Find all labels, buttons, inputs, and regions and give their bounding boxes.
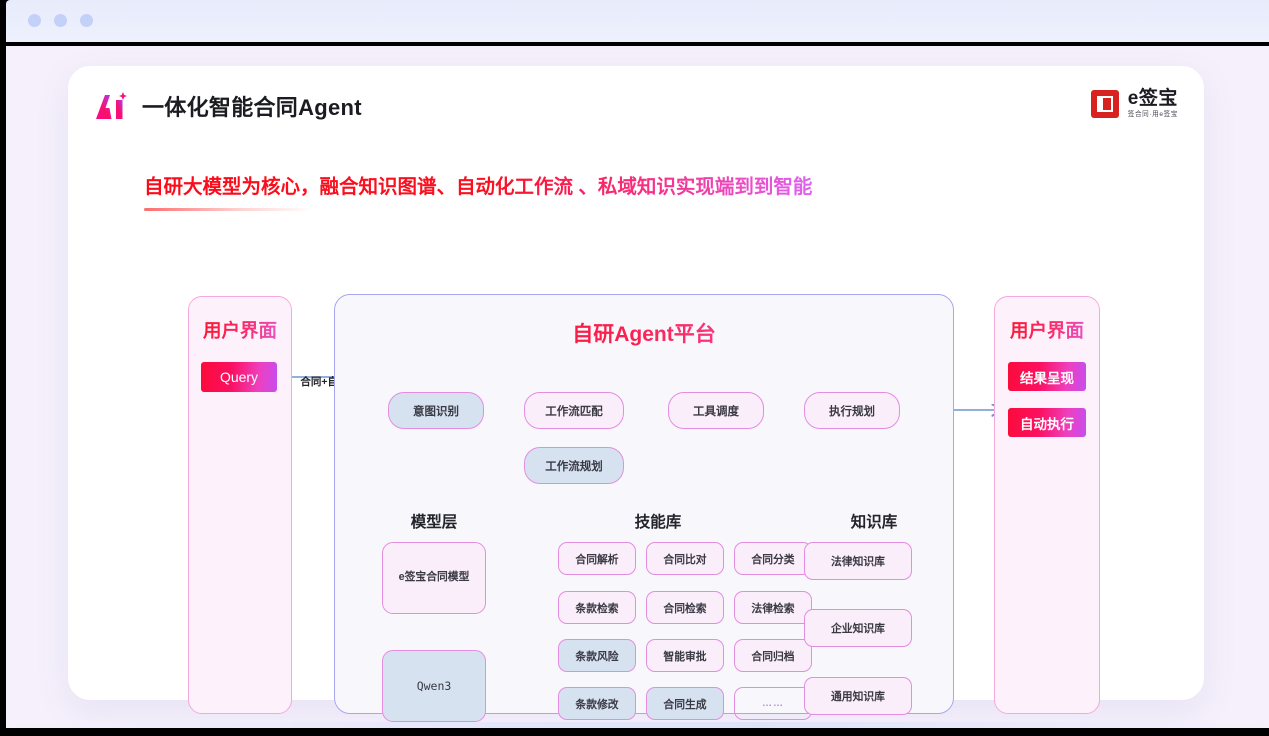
skill-item[interactable]: 合同生成: [646, 687, 724, 720]
right-user-interface-panel: 用户界面: [994, 296, 1100, 714]
query-button[interactable]: Query: [201, 362, 277, 392]
skill-item[interactable]: 智能审批: [646, 639, 724, 672]
knowledge-item-general[interactable]: 通用知识库: [804, 677, 912, 715]
right-panel-title: 用户界面: [995, 317, 1099, 343]
slide-card: 一体化智能合同Agent e签宝 签合同·用e签宝 自研大模型为核心，融合知识图…: [68, 66, 1204, 700]
architecture-diagram: 用户界面 Query 合同+自然语言 自研Agent平台 意图识别 工作流匹配 …: [68, 66, 1204, 700]
knowledge-item-legal[interactable]: 法律知识库: [804, 542, 912, 580]
knowledge-item-enterprise[interactable]: 企业知识库: [804, 609, 912, 647]
skill-item[interactable]: 条款修改: [558, 687, 636, 720]
model-item-qwen[interactable]: Qwen3: [382, 650, 486, 722]
flow-node-wf-match[interactable]: 工作流匹配: [524, 392, 624, 429]
skill-item[interactable]: 合同解析: [558, 542, 636, 575]
window-controls[interactable]: [28, 14, 93, 27]
result-presentation-button[interactable]: 结果呈现: [1008, 362, 1086, 391]
page-background: 一体化智能合同Agent e签宝 签合同·用e签宝 自研大模型为核心，融合知识图…: [6, 46, 1269, 728]
model-item-esign[interactable]: e签宝合同模型: [382, 542, 486, 614]
browser-title-bar: [6, 0, 1269, 42]
skill-item[interactable]: 合同检索: [646, 591, 724, 624]
skill-library-title: 技能库: [558, 510, 758, 532]
model-layer-title: 模型层: [364, 510, 504, 532]
flow-node-intent[interactable]: 意图识别: [388, 392, 484, 429]
skill-item[interactable]: 条款检索: [558, 591, 636, 624]
window-close-dot[interactable]: [28, 14, 41, 27]
skill-item[interactable]: 法律检索: [734, 591, 812, 624]
screenshot-root: 一体化智能合同Agent e签宝 签合同·用e签宝 自研大模型为核心，融合知识图…: [0, 0, 1269, 736]
skill-item[interactable]: 合同比对: [646, 542, 724, 575]
knowledge-base-title: 知识库: [784, 510, 964, 532]
skill-item[interactable]: 合同归档: [734, 639, 812, 672]
flow-node-exec[interactable]: 执行规划: [804, 392, 900, 429]
window-minimize-dot[interactable]: [54, 14, 67, 27]
left-panel-title: 用户界面: [189, 317, 291, 343]
skill-item[interactable]: ……: [734, 687, 812, 720]
flow-node-wf-plan[interactable]: 工作流规划: [524, 447, 624, 484]
flow-node-tool[interactable]: 工具调度: [668, 392, 764, 429]
auto-execution-button[interactable]: 自动执行: [1008, 408, 1086, 437]
agent-platform-title: 自研Agent平台: [334, 318, 954, 348]
window-maximize-dot[interactable]: [80, 14, 93, 27]
skill-item[interactable]: 条款风险: [558, 639, 636, 672]
left-user-interface-panel: 用户界面: [188, 296, 292, 714]
skill-item[interactable]: 合同分类: [734, 542, 812, 575]
